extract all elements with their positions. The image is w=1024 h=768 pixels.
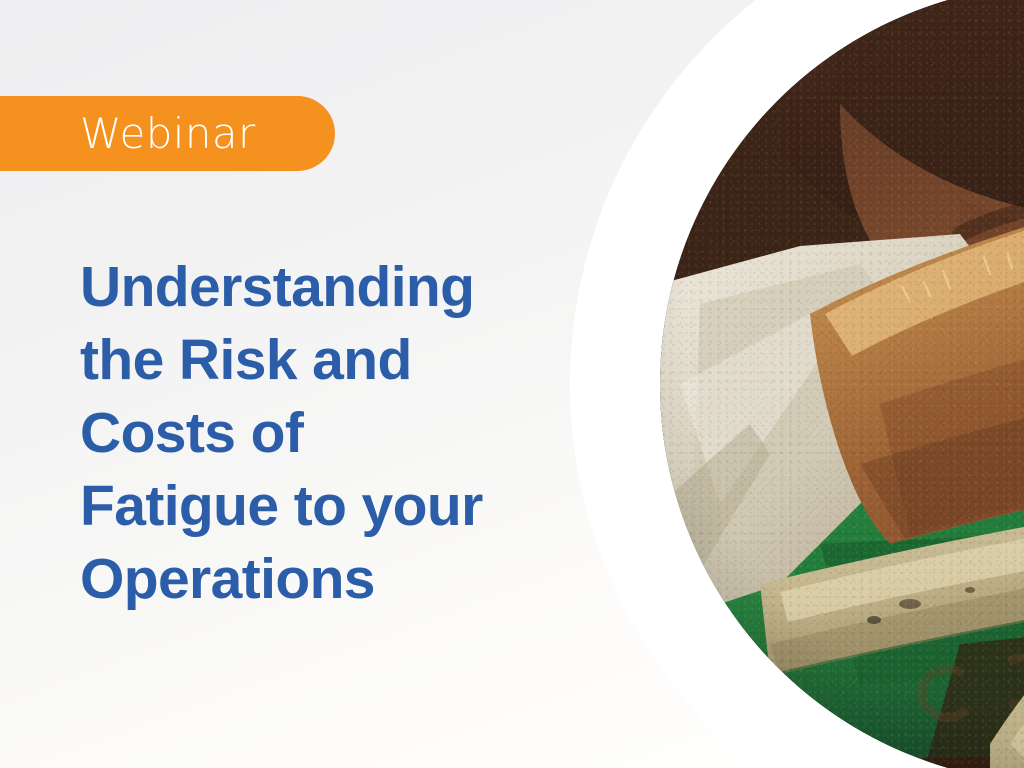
- slide-canvas: Webinar Understanding the Risk and Costs…: [0, 0, 1024, 768]
- webinar-badge: Webinar: [0, 96, 335, 171]
- webinar-badge-label: Webinar: [80, 113, 256, 155]
- slide-headline: Understanding the Risk and Costs of Fati…: [80, 251, 600, 616]
- headline-line-2: the Risk and: [80, 324, 600, 397]
- headline-line-1: Understanding: [80, 251, 600, 324]
- headline-line-5: Operations: [80, 543, 600, 616]
- headline-line-3: Costs of: [80, 397, 600, 470]
- headline-line-4: Fatigue to your: [80, 470, 600, 543]
